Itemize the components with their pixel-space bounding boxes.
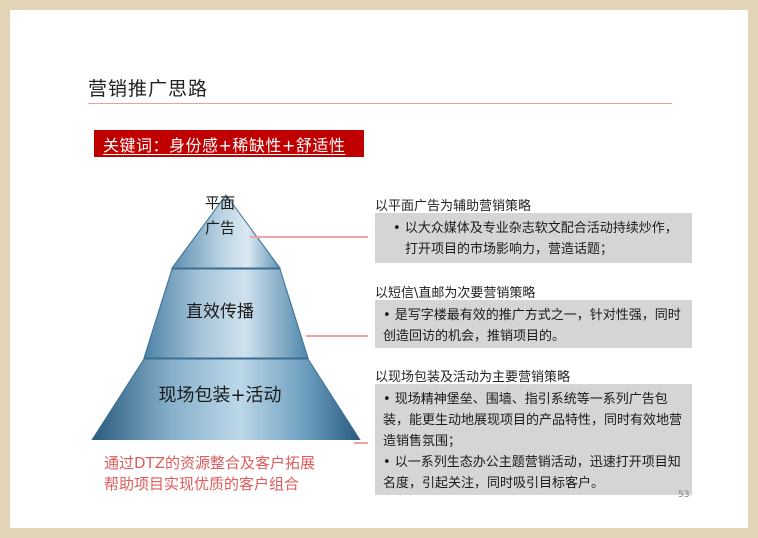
strategy-body-3a: • 现场精神堡垒、围墙、指引系统等一系列广告包装，能更生动地展现项目的产品特性，… [383,389,684,452]
strategy-body-3b: • 以一系列生态办公主题营销活动，迅速打开项目知名度，引起关注，同时吸引目标客户… [383,452,684,494]
connector-line-middle [306,335,368,337]
pyramid-caption: 通过DTZ的资源整合及客户拓展 帮助项目实现优质的客户组合 [104,453,315,495]
title-divider-rule [88,103,672,104]
slide-canvas: 营销推广思路 关键词：身份感+稀缺性+舒适性 [10,10,748,528]
slide-frame: 营销推广思路 关键词：身份感+稀缺性+舒适性 [0,0,758,538]
keyword-banner: 关键词：身份感+稀缺性+舒适性 [94,130,364,157]
connector-line-base [354,442,368,444]
strategy-box-3: • 现场精神堡垒、围墙、指引系统等一系列广告包装，能更生动地展现项目的产品特性，… [375,384,692,495]
page-title: 营销推广思路 [88,74,208,101]
pyramid-caption-line-1: 通过DTZ的资源整合及客户拓展 [104,453,315,474]
strategy-body-2: • 是写字楼最有效的推广方式之一，针对性强，同时创造回访的机会，推销项目的。 [383,305,684,347]
strategy-box-2: • 是写字楼最有效的推广方式之一，针对性强，同时创造回访的机会，推销项目的。 [375,300,692,348]
strategy-heading-1: 以平面广告为辅助营销策略 [375,195,531,214]
pyramid-caption-line-2: 帮助项目实现优质的客户组合 [104,474,315,495]
pyramid-diagram: 平面 广告 直效传播 现场包装+活动 [70,175,370,440]
strategy-body-1: • 以大众媒体及专业杂志软文配合活动持续炒作，打开项目的市场影响力，营造话题； [393,218,684,260]
strategy-heading-2: 以短信\直邮为次要营销策略 [375,282,535,301]
strategy-heading-3: 以现场包装及活动为主要营销策略 [375,366,570,385]
strategy-box-1: • 以大众媒体及专业杂志软文配合活动持续炒作，打开项目的市场影响力，营造话题； [375,213,692,263]
pyramid-svg [70,175,370,440]
slide-number: 53 [678,490,689,500]
connector-line-top [250,236,368,238]
keyword-banner-text: 关键词：身份感+稀缺性+舒适性 [103,132,345,156]
